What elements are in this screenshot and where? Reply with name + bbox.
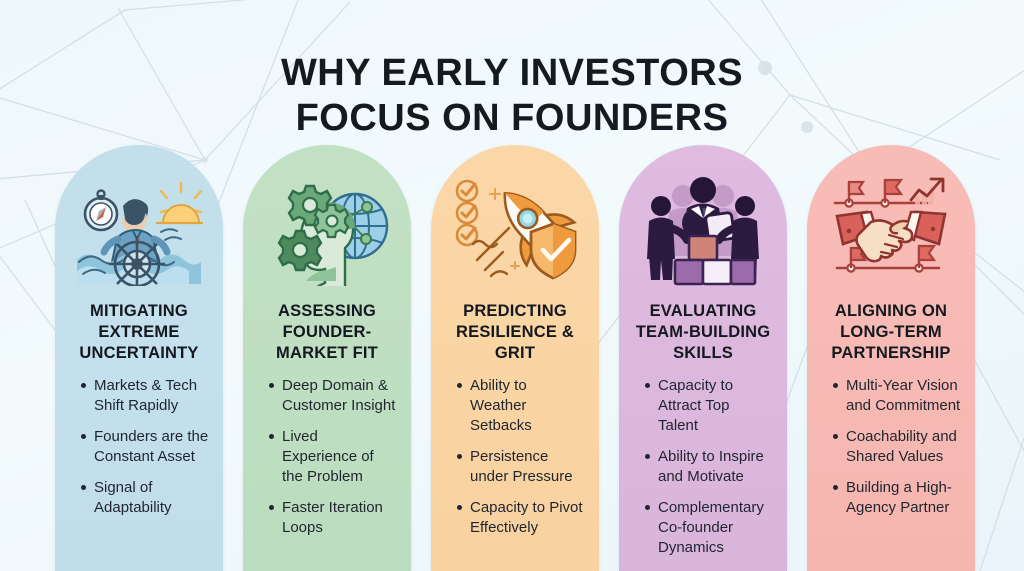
- list-item: Signal of Adaptability: [81, 478, 209, 518]
- handshake-milestones-growth-icon: [817, 167, 965, 295]
- card-predicting-resilience-grit[interactable]: PREDICTING RESILIENCE & GRIT Ability to …: [431, 145, 599, 571]
- page-title-line-1: WHY EARLY INVESTORS: [0, 51, 1024, 95]
- list-item: Deep Domain & Customer Insight: [269, 376, 397, 416]
- team-building-blocks-icon: [629, 167, 777, 295]
- card-title: ASSESSING FOUNDER-MARKET FIT: [253, 301, 401, 364]
- list-item: Coachability and Shared Values: [833, 427, 961, 467]
- card-assessing-founder-market-fit[interactable]: ASSESSING FOUNDER-MARKET FIT Deep Domain…: [243, 145, 411, 571]
- card-bullet-list: Ability to Weather Setbacks Persistence …: [441, 376, 589, 538]
- list-item: Ability to Weather Setbacks: [457, 376, 585, 436]
- list-item: Capacity to Pivot Effectively: [457, 498, 585, 538]
- list-item: Multi-Year Vision and Commitment: [833, 376, 961, 416]
- card-bullet-list: Deep Domain & Customer Insight Lived Exp…: [253, 376, 401, 538]
- list-item: Complementary Co-founder Dynamics: [645, 498, 773, 558]
- ship-wheel-compass-icon: [65, 167, 213, 295]
- page-title-line-2: FOCUS ON FOUNDERS: [0, 96, 1024, 140]
- card-aligning-on-long-term-partnership[interactable]: ALIGNING ON LONG-TERM PARTNERSHIP Multi-…: [807, 145, 975, 571]
- card-evaluating-team-building-skills[interactable]: EVALUATING TEAM-BUILDING SKILLS Capacity…: [619, 145, 787, 571]
- card-title: ALIGNING ON LONG-TERM PARTNERSHIP: [817, 301, 965, 364]
- card-title: PREDICTING RESILIENCE & GRIT: [441, 301, 589, 364]
- list-item: Capacity to Attract Top Talent: [645, 376, 773, 436]
- card-bullet-list: Markets & Tech Shift Rapidly Founders ar…: [65, 376, 213, 518]
- card-title: EVALUATING TEAM-BUILDING SKILLS: [629, 301, 777, 364]
- cards-row: MITIGATING EXTREME UNCERTAINTY Markets &…: [55, 145, 975, 571]
- list-item: Ability to Inspire and Motivate: [645, 447, 773, 487]
- rocket-shield-checklist-icon: [441, 167, 589, 295]
- list-item: Building a High-Agency Partner: [833, 478, 961, 518]
- list-item: Founders are the Constant Asset: [81, 427, 209, 467]
- card-title: MITIGATING EXTREME UNCERTAINTY: [65, 301, 213, 364]
- card-mitigating-extreme-uncertainty[interactable]: MITIGATING EXTREME UNCERTAINTY Markets &…: [55, 145, 223, 571]
- card-bullet-list: Capacity to Attract Top Talent Ability t…: [629, 376, 777, 558]
- head-gears-globe-icon: [253, 167, 401, 295]
- card-bullet-list: Multi-Year Vision and Commitment Coachab…: [817, 376, 965, 518]
- list-item: Faster Iteration Loops: [269, 498, 397, 538]
- infographic-canvas: WHY EARLY INVESTORS FOCUS ON FOUNDERS: [0, 0, 1024, 571]
- list-item: Markets & Tech Shift Rapidly: [81, 376, 209, 416]
- page-title: WHY EARLY INVESTORS FOCUS ON FOUNDERS: [0, 51, 1024, 139]
- list-item: Persistence under Pressure: [457, 447, 585, 487]
- list-item: Lived Experience of the Problem: [269, 427, 397, 487]
